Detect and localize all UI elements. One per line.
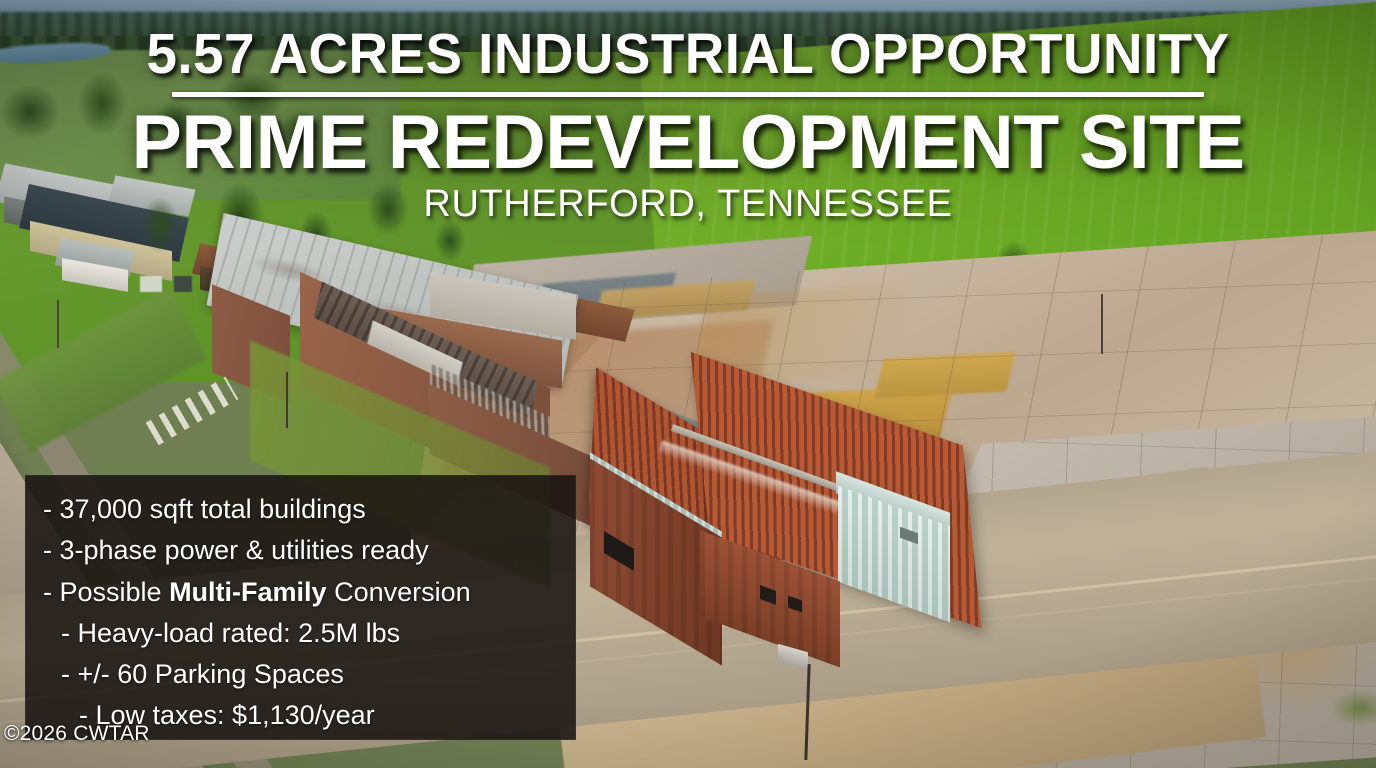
list-item-suffix: Conversion [327, 577, 471, 607]
utility-pole-c [57, 300, 59, 348]
list-item-emphasis: Multi-Family [169, 577, 327, 607]
list-item: - Heavy-load rated: 2.5M lbs [43, 613, 576, 654]
pavement-stripes [146, 377, 239, 446]
list-item: - 37,000 sqft total buildings [43, 489, 576, 530]
features-panel: - 37,000 sqft total buildings - 3-phase … [25, 475, 576, 740]
apron-grass [1330, 690, 1376, 726]
utility-pole-d [286, 372, 288, 428]
list-item: - 3-phase power & utilities ready [43, 530, 576, 571]
treeline-upper-left [0, 56, 320, 176]
list-item-prefix: - Possible [43, 577, 169, 607]
list-item: - Possible Multi-Family Conversion [43, 572, 576, 613]
utility-pole-b [1101, 294, 1103, 354]
copyright-watermark: ©2026 CWTAR [4, 722, 150, 746]
listing-poster: 5.57 ACRES INDUSTRIAL OPPORTUNITY PRIME … [0, 0, 1376, 768]
features-list: - 37,000 sqft total buildings - 3-phase … [25, 475, 576, 737]
list-item: - +/- 60 Parking Spaces [43, 654, 576, 695]
